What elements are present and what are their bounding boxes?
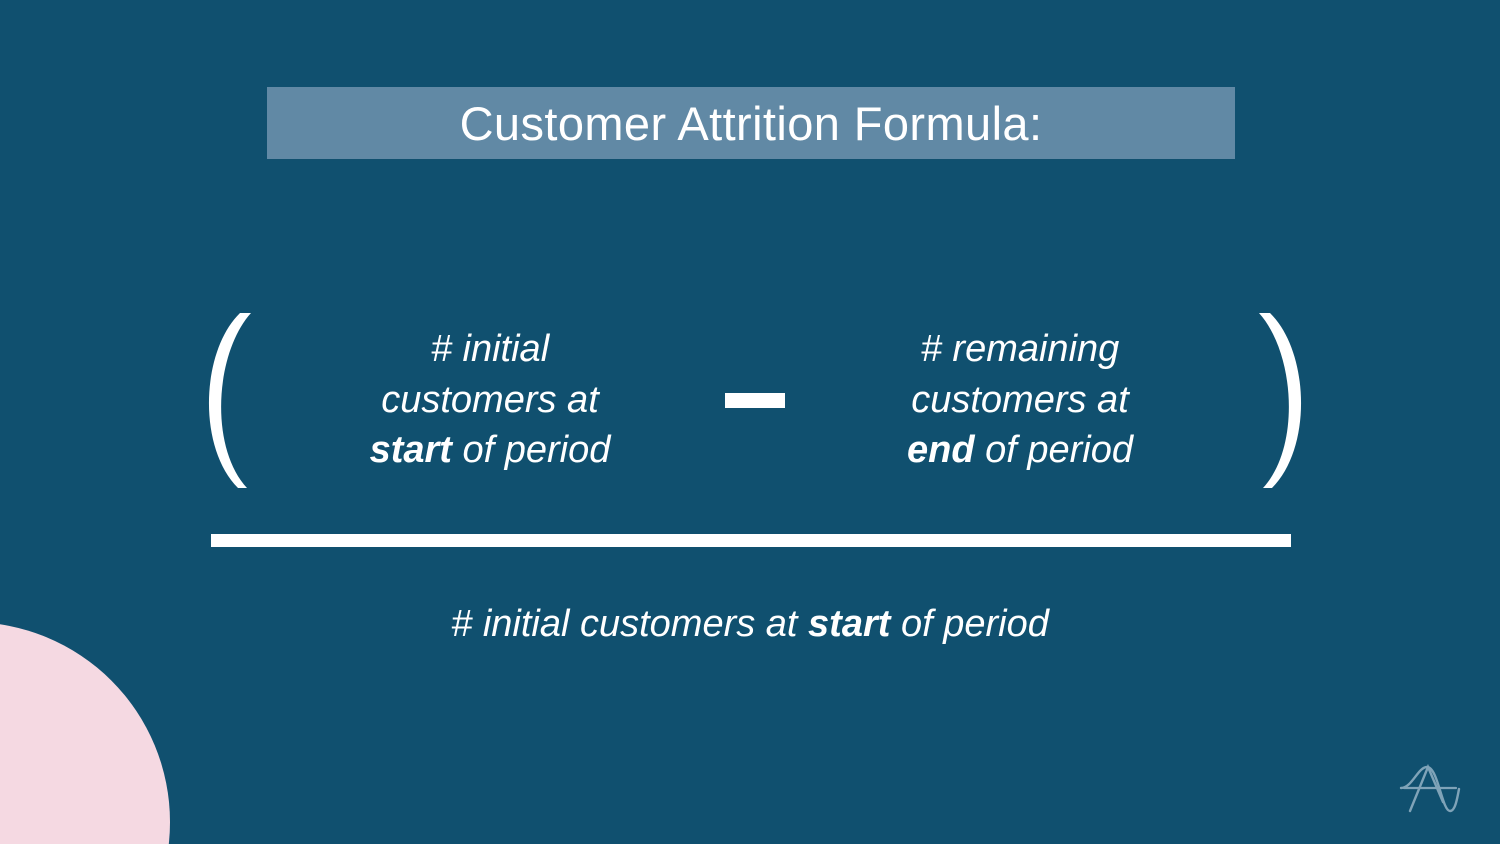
attrition-formula: # initial customers at start of period #… [0, 0, 1500, 844]
numerator-left-line1: # initial [300, 324, 680, 375]
numerator-left-line2: customers at [300, 375, 680, 426]
formula-numerator: # initial customers at start of period #… [195, 305, 1315, 495]
denominator-prefix: # initial customers at [451, 603, 808, 645]
denominator-suffix: of period [890, 603, 1048, 645]
numerator-right-bold: end [907, 429, 975, 471]
numerator-left-term: # initial customers at start of period [300, 324, 680, 476]
fraction-divider-bar [211, 534, 1291, 547]
denominator-bold: start [808, 603, 890, 645]
numerator-right-term: # remaining customers at end of period [830, 324, 1210, 476]
minus-operator-icon [725, 393, 785, 408]
numerator-left-bold: start [370, 429, 452, 471]
numerator-right-line1: # remaining [830, 324, 1210, 375]
numerator-right-line3: end of period [830, 425, 1210, 476]
numerator-left-rest: of period [452, 429, 610, 471]
numerator-left-line3: start of period [300, 425, 680, 476]
slide-canvas: Customer Attrition Formula: # initial cu… [0, 0, 1500, 844]
close-parenthesis-icon [1245, 307, 1315, 493]
open-parenthesis-icon [195, 307, 265, 493]
numerator-right-line2: customers at [830, 375, 1210, 426]
a-wave-monogram-logo-icon [1398, 758, 1462, 820]
numerator-right-rest: of period [975, 429, 1133, 471]
formula-denominator: # initial customers at start of period [0, 600, 1500, 649]
